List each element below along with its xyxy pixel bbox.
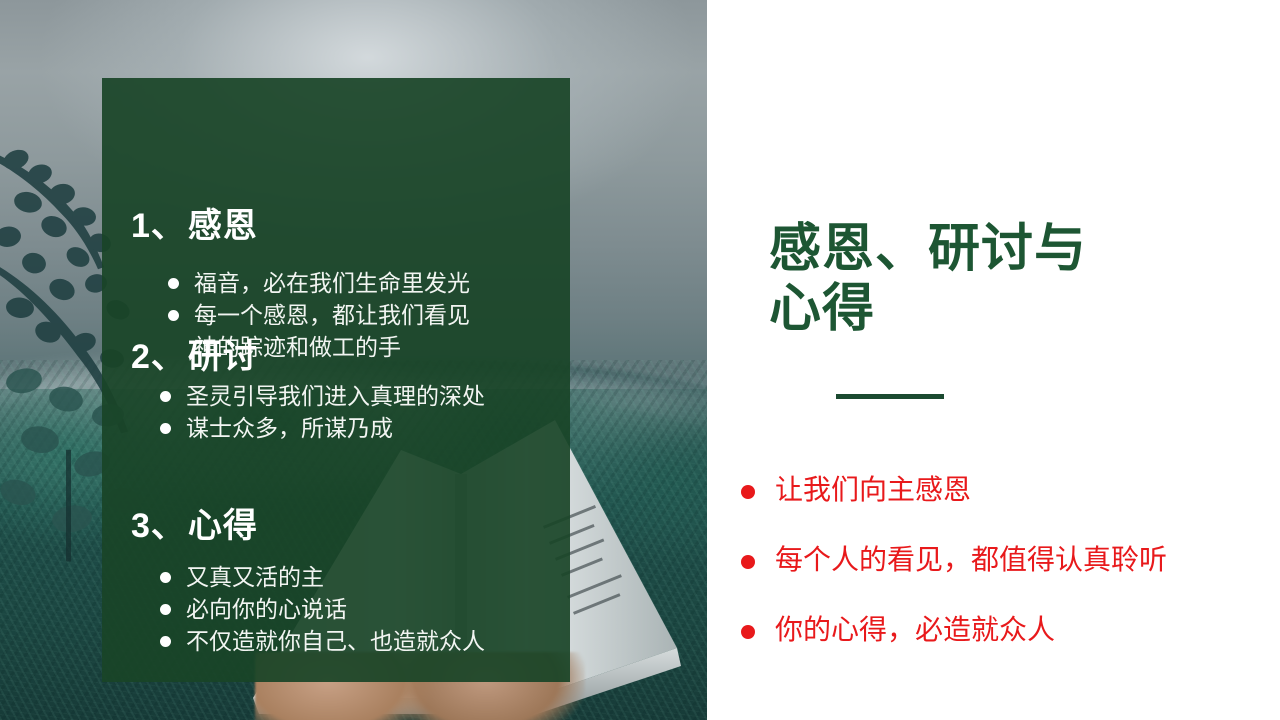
bullet-dot-icon xyxy=(160,636,171,647)
key-points-list: 让我们向主感恩 每个人的看见，都值得认真聆听 你的心得，必造就众人 xyxy=(733,474,1278,684)
content-panel: 1、感恩 福音，必在我们生命里发光 每一个感恩，都让我们看见 神的踪迹和做工的手… xyxy=(102,78,570,682)
list-item: 必向你的心说话 xyxy=(154,593,564,625)
bullet-dot-icon xyxy=(741,485,755,499)
section-title-1: 感恩 xyxy=(188,207,258,245)
list-item: 让我们向主感恩 xyxy=(733,474,1278,508)
bullet-dot-icon xyxy=(168,278,179,289)
section-heading-2: 2、研讨 xyxy=(131,329,258,378)
list-item: 你的心得，必造就众人 xyxy=(733,614,1278,648)
slide-canvas: 1、感恩 福音，必在我们生命里发光 每一个感恩，都让我们看见 神的踪迹和做工的手… xyxy=(0,0,1280,720)
list-item-text: 福音，必在我们生命里发光 xyxy=(194,270,470,296)
section-heading-1: 1、感恩 xyxy=(131,198,258,247)
list-item: 谋士众多，所谋乃成 xyxy=(154,412,564,444)
list-item-text: 你的心得，必造就众人 xyxy=(775,615,1055,646)
section-number-1: 1、 xyxy=(131,207,186,245)
list-item: 不仅造就你自己、也造就众人 xyxy=(154,625,564,657)
page-title-line-1: 感恩、研讨与 xyxy=(769,219,1239,279)
bullet-dot-icon xyxy=(160,423,171,434)
page-title: 感恩、研讨与 心得 xyxy=(769,219,1239,339)
bullet-dot-icon xyxy=(741,555,755,569)
list-item-text: 又真又活的主 xyxy=(186,564,324,590)
bullet-dot-icon xyxy=(168,310,179,321)
list-item-text: 必向你的心说话 xyxy=(186,596,347,622)
section-bullets-3: 又真又活的主 必向你的心说话 不仅造就你自己、也造就众人 xyxy=(154,561,564,657)
section-number-3: 3、 xyxy=(131,507,186,545)
list-item: 圣灵引导我们进入真理的深处 xyxy=(154,380,564,412)
list-item-text: 每个人的看见，都值得认真聆听 xyxy=(775,545,1167,576)
bullet-dot-icon xyxy=(160,604,171,615)
bullet-dot-icon xyxy=(741,625,755,639)
bullet-dot-icon xyxy=(160,572,171,583)
list-item-text: 不仅造就你自己、也造就众人 xyxy=(186,628,485,654)
list-item: 又真又活的主 xyxy=(154,561,564,593)
title-panel: 感恩、研讨与 心得 让我们向主感恩 每个人的看见，都值得认真聆听 你的心得，必造… xyxy=(707,0,1280,720)
section-title-3: 心得 xyxy=(188,507,258,545)
list-item: 福音，必在我们生命里发光 xyxy=(162,267,552,299)
page-title-line-2: 心得 xyxy=(769,279,1239,339)
title-divider xyxy=(836,394,944,399)
list-item-text: 圣灵引导我们进入真理的深处 xyxy=(186,383,485,409)
section-title-2: 研讨 xyxy=(188,338,258,376)
section-number-2: 2、 xyxy=(131,338,186,376)
bullet-dot-icon xyxy=(160,391,171,402)
section-heading-3: 3、心得 xyxy=(131,498,258,547)
section-bullets-2: 圣灵引导我们进入真理的深处 谋士众多，所谋乃成 xyxy=(154,380,564,444)
list-item: 每个人的看见，都值得认真聆听 xyxy=(733,544,1278,578)
list-item-text: 让我们向主感恩 xyxy=(775,475,971,506)
list-item-text: 谋士众多，所谋乃成 xyxy=(186,415,393,441)
